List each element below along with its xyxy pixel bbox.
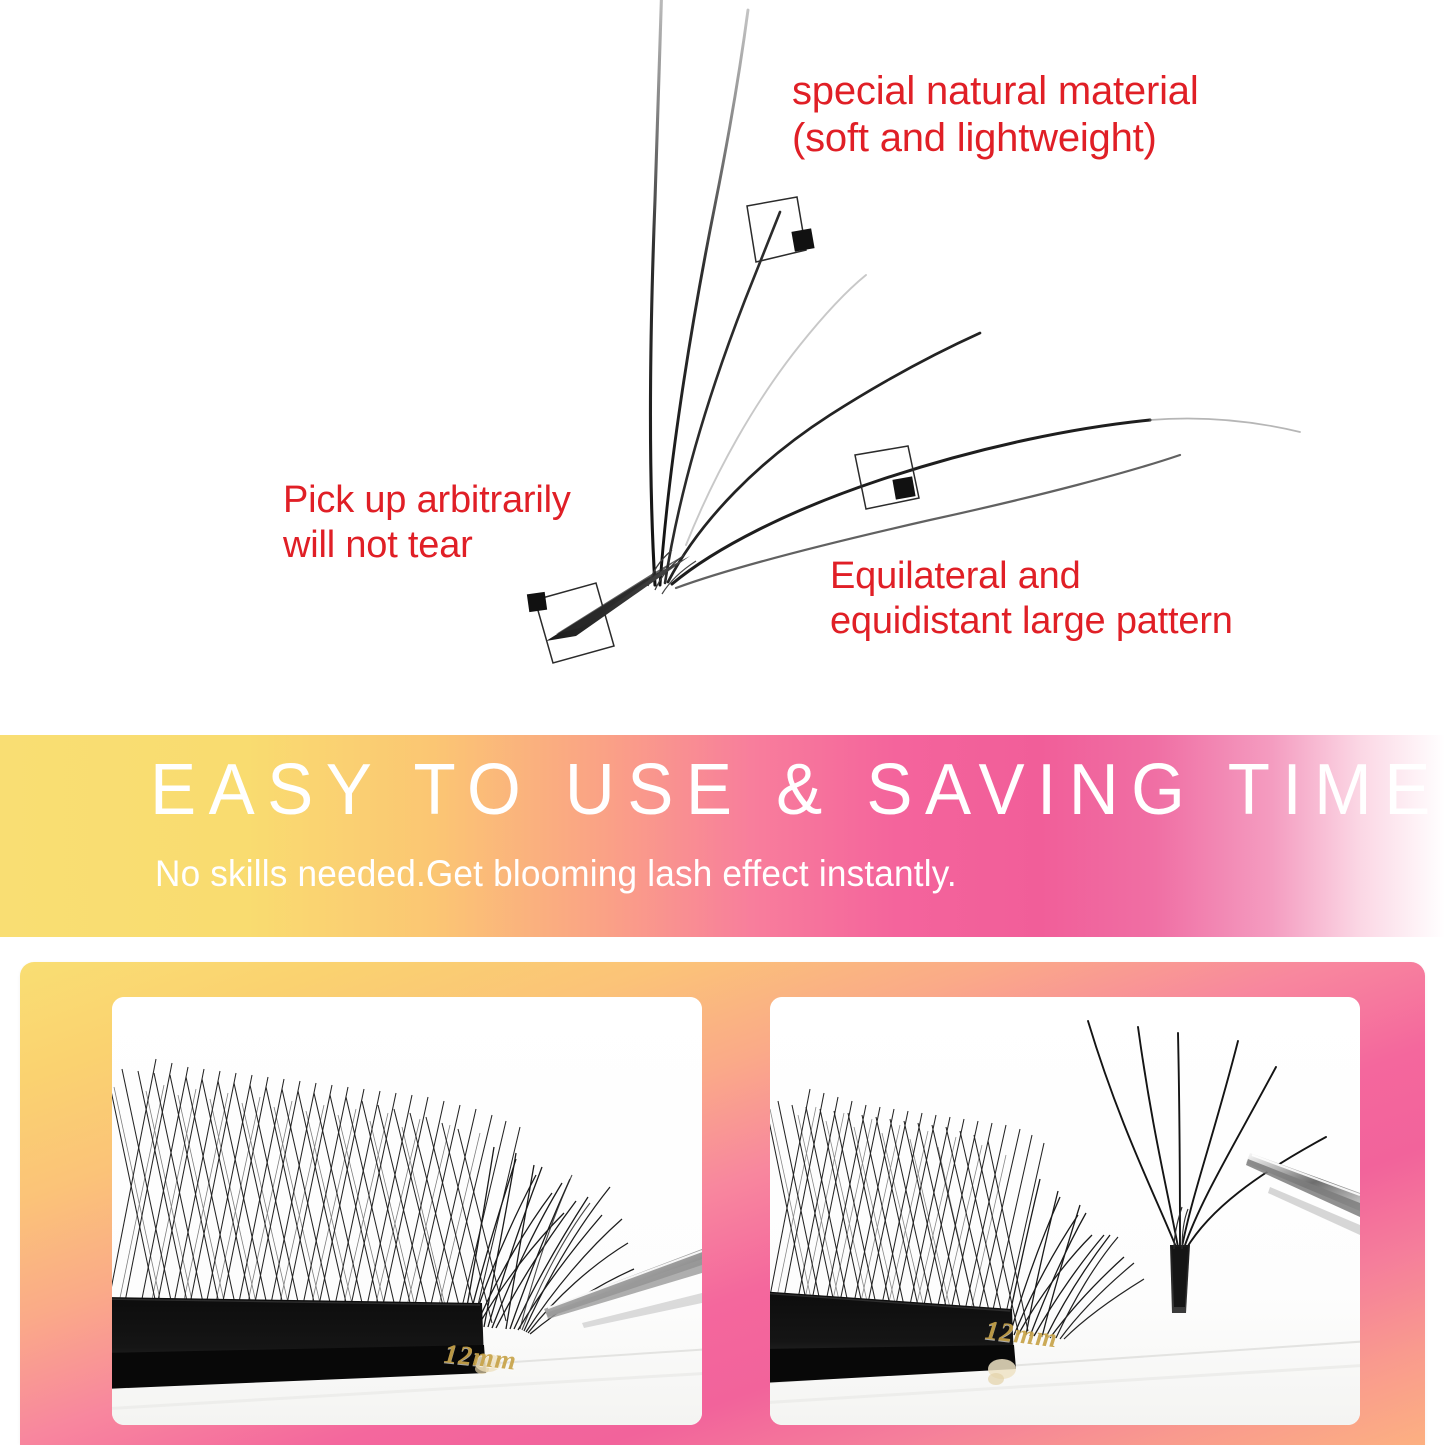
photo-card-lash-tray: 12mm <box>112 997 702 1425</box>
callout-special-natural-material: special natural material (soft and light… <box>792 68 1199 162</box>
callout-pick-up-arbitrarily: Pick up arbitrarily will not tear <box>283 478 571 568</box>
banner-subheadline: No skills needed.Get blooming lash effec… <box>155 853 1200 895</box>
callout-equilateral-equidistant: Equilateral and equidistant large patter… <box>830 554 1233 644</box>
marker-upper-anchor <box>747 197 815 262</box>
feature-diagram-section: special natural material (soft and light… <box>0 0 1445 735</box>
photo-card-lash-pickup: 12mm <box>770 997 1360 1425</box>
product-photo-panel: 12mm <box>20 962 1425 1445</box>
marker-base-anchor <box>527 583 614 663</box>
easy-to-use-banner: EASY TO USE & SAVING TIME No skills need… <box>0 735 1445 937</box>
banner-headline: EASY TO USE & SAVING TIME <box>150 753 1302 829</box>
photo-single-fan-pickup <box>770 997 1360 1425</box>
photo-lash-tray-with-tweezers <box>112 997 702 1425</box>
